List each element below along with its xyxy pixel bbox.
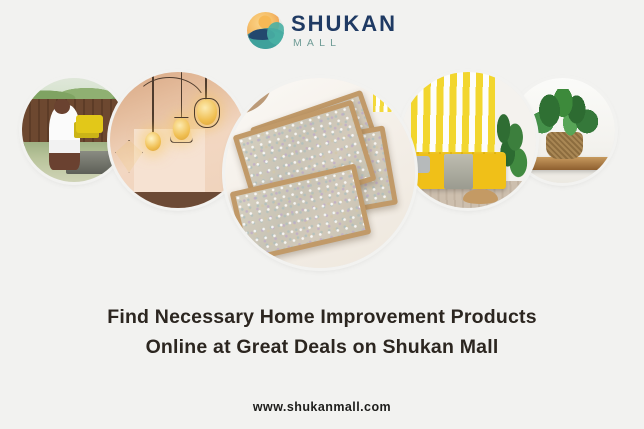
coffee-table bbox=[463, 189, 498, 204]
yellow-stripe-accent bbox=[373, 78, 415, 112]
scene-home-decor-trays bbox=[225, 78, 415, 268]
promotional-banner: SHUKAN MALL bbox=[0, 0, 644, 429]
power-saw-tool bbox=[76, 115, 103, 133]
edison-bulb bbox=[145, 132, 161, 151]
photo-circle-cluster bbox=[0, 0, 644, 290]
banner-headline: Find Necessary Home Improvement Products… bbox=[0, 303, 644, 362]
cage-lamp-shade bbox=[194, 98, 220, 128]
website-url[interactable]: www.shukanmall.com bbox=[0, 400, 644, 414]
lamp-cord bbox=[152, 72, 154, 135]
throw-blanket bbox=[444, 154, 474, 189]
person-head bbox=[54, 99, 70, 115]
photo-circle-living-room-furniture bbox=[400, 72, 536, 208]
headline-line-2: Online at Great Deals on Shukan Mall bbox=[0, 333, 644, 363]
headline-line-1: Find Necessary Home Improvement Products bbox=[0, 303, 644, 333]
lamp-cord bbox=[181, 72, 183, 121]
plant-leaves bbox=[527, 89, 603, 144]
photo-circle-home-decor-trays bbox=[225, 78, 415, 268]
scene-living-room-furniture bbox=[400, 72, 536, 208]
person-figure bbox=[49, 105, 80, 169]
